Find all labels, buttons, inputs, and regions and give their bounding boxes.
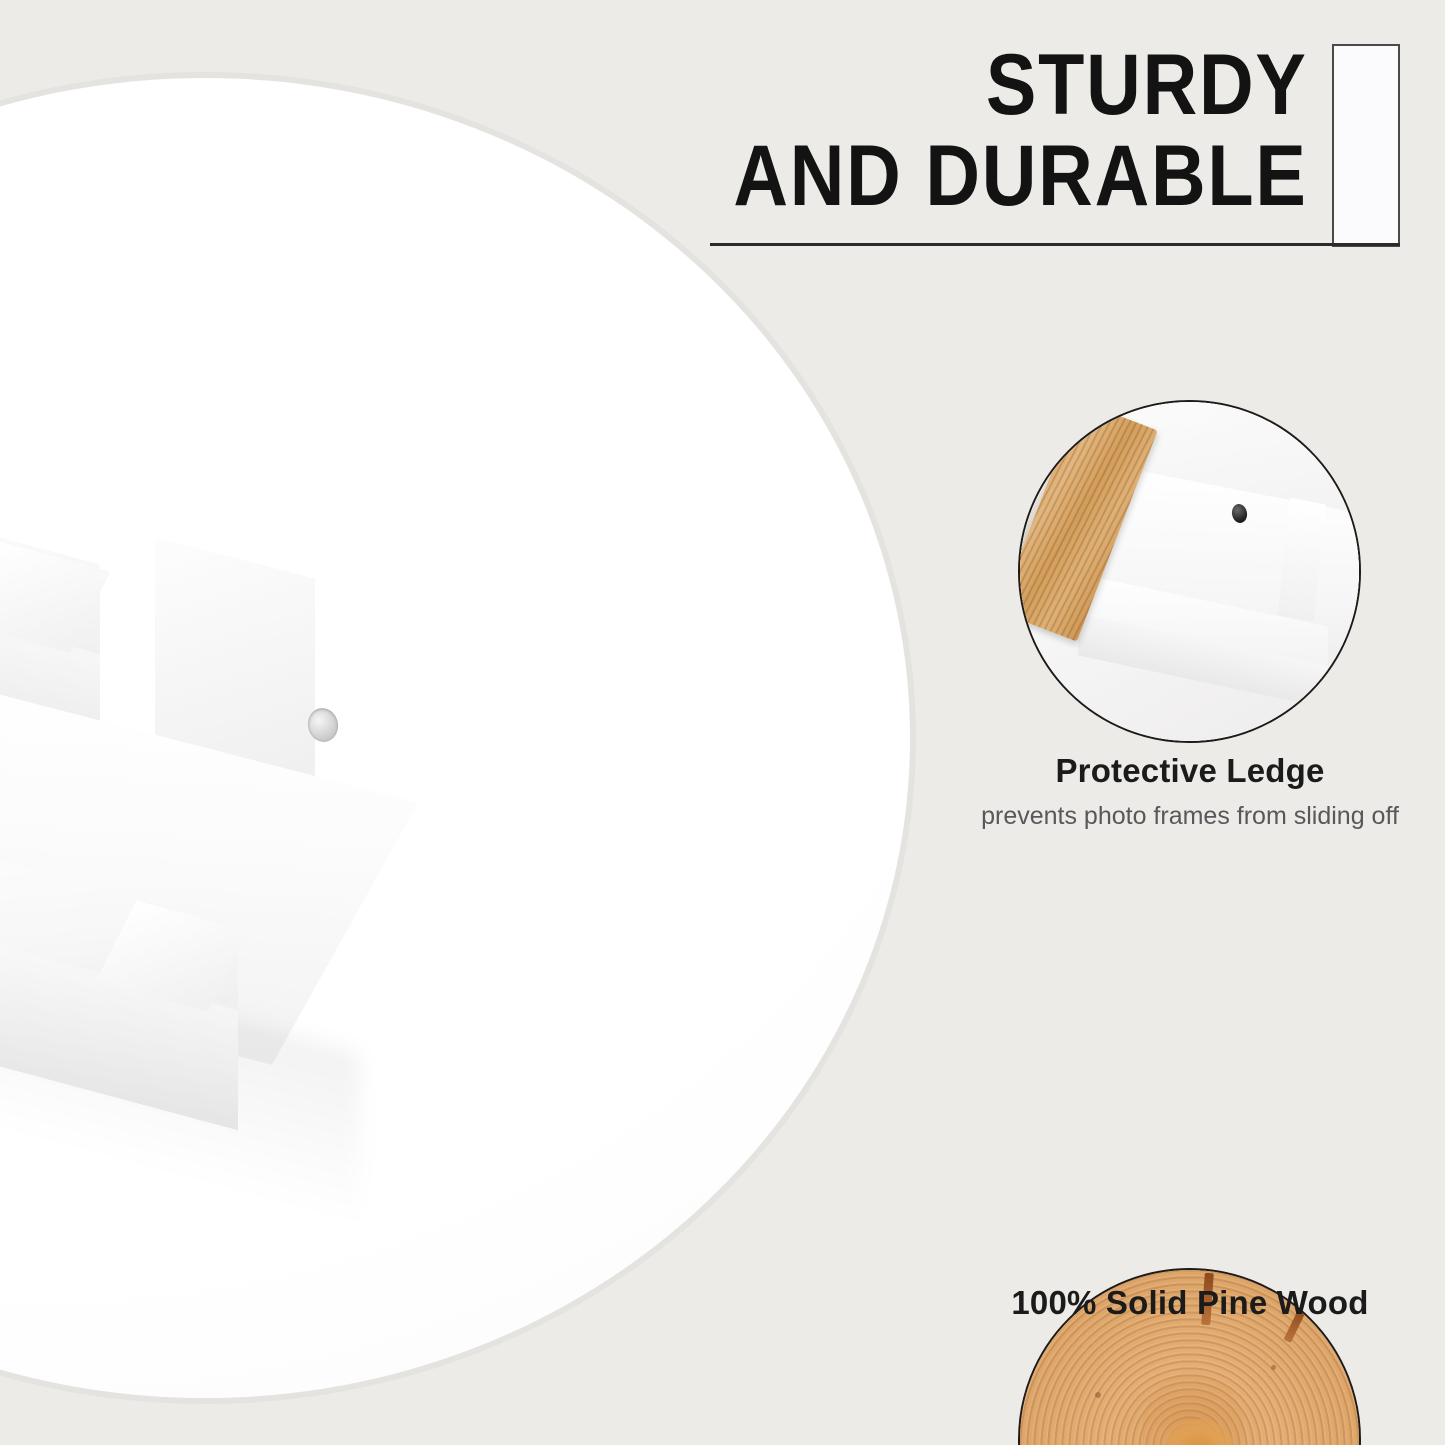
feature-title-protective-ledge: Protective Ledge bbox=[960, 752, 1420, 790]
hero-shelf-scene bbox=[0, 78, 910, 1398]
headline-lines: STURDY AND DURABLE bbox=[655, 40, 1332, 222]
wood-speck bbox=[1095, 1392, 1101, 1398]
headline-underline-rule bbox=[710, 243, 1400, 246]
product-feature-banner: STURDY AND DURABLE Protective Ledge pre bbox=[0, 0, 1445, 1445]
hero-product-photo bbox=[0, 78, 910, 1398]
feature-subtitle-protective-ledge: prevents photo frames from sliding off bbox=[980, 800, 1400, 834]
headline-line-1: STURDY bbox=[734, 40, 1308, 131]
headline-accent-rectangle bbox=[1332, 44, 1400, 247]
feature-title-solid-pine-wood: 100% Solid Pine Wood bbox=[960, 1284, 1420, 1322]
feature-image-protective-ledge bbox=[1018, 400, 1361, 743]
wood-speck bbox=[1271, 1365, 1276, 1370]
headline-block: STURDY AND DURABLE bbox=[640, 40, 1400, 247]
ledge-scene bbox=[1020, 402, 1359, 741]
headline-line-2: AND DURABLE bbox=[734, 131, 1308, 222]
